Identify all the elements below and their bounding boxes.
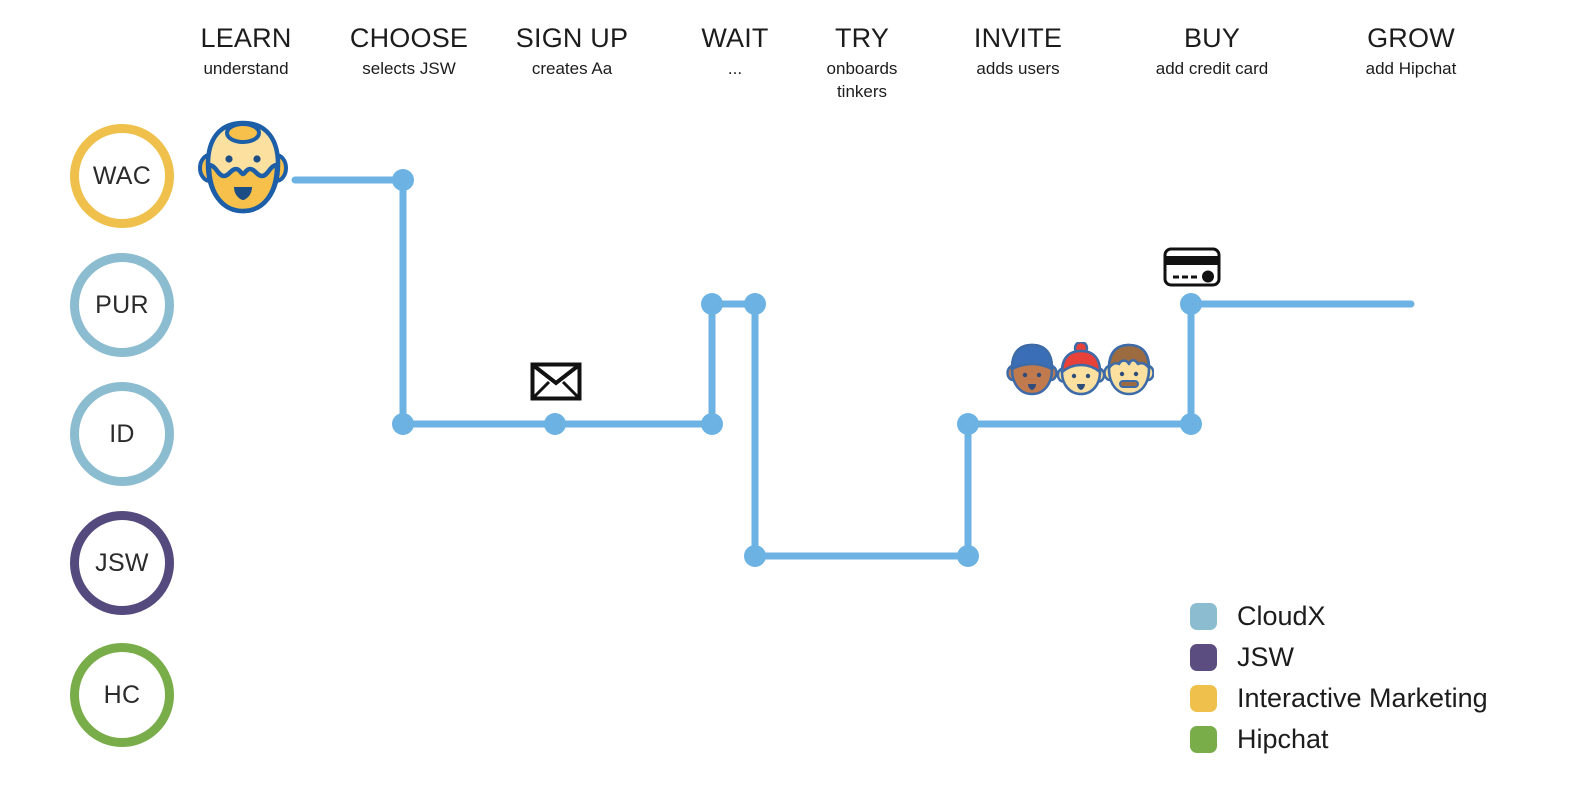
journey-node[interactable]	[544, 413, 566, 435]
swimlane-circle-wac[interactable]: WAC	[70, 124, 174, 228]
stage-column-grow: GROWadd Hipchat	[1306, 22, 1516, 80]
swimlane-circle-id[interactable]: ID	[70, 382, 174, 486]
legend-item: JSW	[1190, 637, 1488, 678]
stage-title: INVITE	[913, 22, 1123, 54]
journey-node[interactable]	[701, 293, 723, 315]
invited-user-avatar-1	[1008, 345, 1057, 394]
stage-column-buy: BUYadd credit card	[1107, 22, 1317, 80]
journey-node[interactable]	[957, 545, 979, 567]
journey-node[interactable]	[744, 545, 766, 567]
stage-title: GROW	[1306, 22, 1516, 54]
stage-subtitle-line: add Hipchat	[1306, 57, 1516, 80]
stage-subtitle: add credit card	[1107, 57, 1317, 80]
journey-node[interactable]	[957, 413, 979, 435]
customer-journey-map: LEARNunderstandCHOOSEselects JSWSIGN UPc…	[0, 0, 1586, 792]
legend-swatch	[1190, 726, 1217, 753]
swimlane-label: HC	[104, 681, 141, 710]
envelope-icon	[530, 362, 582, 406]
stage-subtitle: add Hipchat	[1306, 57, 1516, 80]
legend-item: CloudX	[1190, 596, 1488, 637]
swimlane-label: ID	[109, 420, 135, 449]
journey-polyline	[295, 180, 1411, 556]
bearded-user-avatar-icon	[198, 118, 288, 223]
stage-subtitle: adds users	[913, 57, 1123, 80]
legend: CloudXJSWInteractive MarketingHipchat	[1190, 596, 1488, 760]
stage-column-invite: INVITEadds users	[913, 22, 1123, 80]
legend-label: CloudX	[1237, 601, 1326, 632]
swimlane-circle-jsw[interactable]: JSW	[70, 511, 174, 615]
credit-card-icon	[1163, 247, 1221, 292]
journey-node[interactable]	[1180, 413, 1202, 435]
legend-swatch	[1190, 685, 1217, 712]
stage-subtitle-line: adds users	[913, 57, 1123, 80]
swimlane-label: WAC	[93, 162, 151, 191]
invited-user-avatar-2	[1058, 342, 1104, 394]
swimlane-label: PUR	[95, 291, 149, 320]
legend-label: Hipchat	[1237, 724, 1329, 755]
swimlane-circle-pur[interactable]: PUR	[70, 253, 174, 357]
stage-title: BUY	[1107, 22, 1317, 54]
journey-node[interactable]	[1180, 293, 1202, 315]
journey-node[interactable]	[744, 293, 766, 315]
legend-label: JSW	[1237, 642, 1294, 673]
legend-label: Interactive Marketing	[1237, 683, 1488, 714]
legend-swatch	[1190, 644, 1217, 671]
stage-subtitle-line: add credit card	[1107, 57, 1317, 80]
stage-subtitle-line: tinkers	[757, 80, 967, 103]
swimlane-circle-hc[interactable]: HC	[70, 643, 174, 747]
journey-node[interactable]	[701, 413, 723, 435]
legend-item: Interactive Marketing	[1190, 678, 1488, 719]
invited-user-avatar-3	[1105, 345, 1154, 394]
swimlane-label: JSW	[95, 549, 149, 578]
legend-item: Hipchat	[1190, 719, 1488, 760]
journey-node[interactable]	[392, 413, 414, 435]
invited-users-avatars-icon	[1006, 342, 1154, 403]
journey-node[interactable]	[392, 169, 414, 191]
legend-swatch	[1190, 603, 1217, 630]
